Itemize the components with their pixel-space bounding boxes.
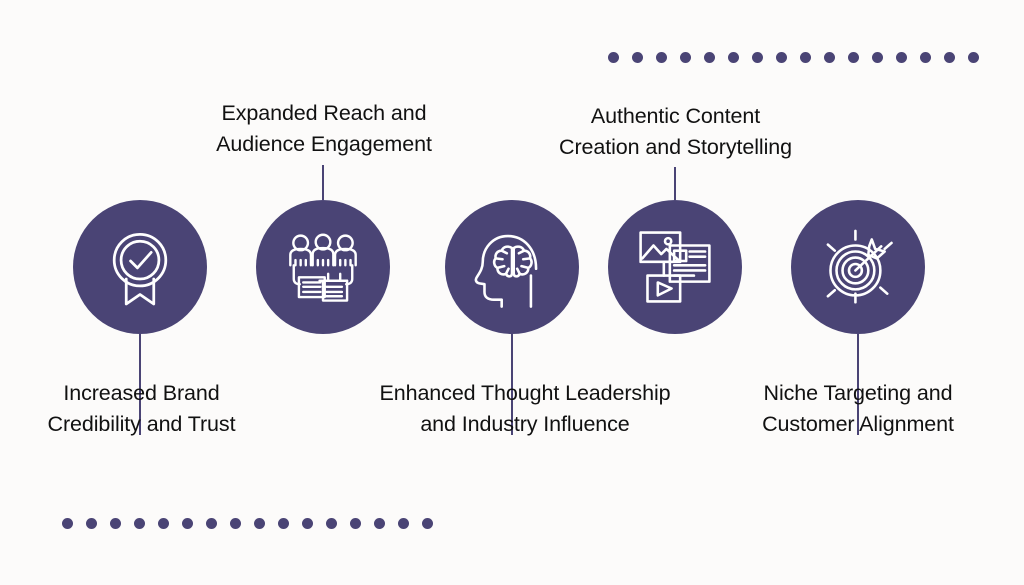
decor-dot	[302, 518, 313, 529]
decor-dot	[350, 518, 361, 529]
decor-dot	[110, 518, 121, 529]
icon-circle[interactable]	[73, 200, 207, 334]
decor-dot	[776, 52, 787, 63]
label-niche-targeting: Niche Targeting and Customer Alignment	[718, 378, 998, 440]
top-right-dot-row	[608, 52, 979, 63]
decor-dot	[86, 518, 97, 529]
decor-dot	[872, 52, 883, 63]
decor-dot	[656, 52, 667, 63]
infographic-canvas: Increased Brand Credibility and Trust	[0, 0, 1024, 585]
target-arrow-icon	[815, 224, 901, 310]
decor-dot	[800, 52, 811, 63]
decor-dot	[632, 52, 643, 63]
decor-dot	[230, 518, 241, 529]
decor-dot	[728, 52, 739, 63]
decor-dot	[326, 518, 337, 529]
connector-line	[674, 167, 676, 200]
decor-dot	[422, 518, 433, 529]
decor-dot	[374, 518, 385, 529]
decor-dot	[182, 518, 193, 529]
decor-dot	[896, 52, 907, 63]
decor-dot	[254, 518, 265, 529]
label-increased-brand-credibility: Increased Brand Credibility and Trust	[0, 378, 283, 440]
decor-dot	[134, 518, 145, 529]
decor-dot	[206, 518, 217, 529]
decor-dot	[680, 52, 691, 63]
people-group-chat-icon	[280, 224, 366, 310]
decor-dot	[62, 518, 73, 529]
award-badge-check-icon	[97, 224, 183, 310]
decor-dot	[752, 52, 763, 63]
head-brain-icon	[469, 224, 555, 310]
label-authentic-content-creation: Authentic Content Creation and Storytell…	[512, 101, 839, 163]
decor-dot	[944, 52, 955, 63]
decor-dot	[968, 52, 979, 63]
media-content-icon	[632, 224, 718, 310]
decor-dot	[398, 518, 409, 529]
label-expanded-reach: Expanded Reach and Audience Engagement	[178, 98, 470, 160]
decor-dot	[848, 52, 859, 63]
icon-circle[interactable]	[256, 200, 390, 334]
icon-circle[interactable]	[791, 200, 925, 334]
connector-line	[322, 165, 324, 200]
decor-dot	[704, 52, 715, 63]
bottom-left-dot-row	[62, 518, 433, 529]
icon-circle[interactable]	[445, 200, 579, 334]
decor-dot	[920, 52, 931, 63]
decor-dot	[824, 52, 835, 63]
decor-dot	[278, 518, 289, 529]
decor-dot	[158, 518, 169, 529]
icon-circle[interactable]	[608, 200, 742, 334]
label-enhanced-thought-leadership: Enhanced Thought Leadership and Industry…	[340, 378, 710, 440]
decor-dot	[608, 52, 619, 63]
